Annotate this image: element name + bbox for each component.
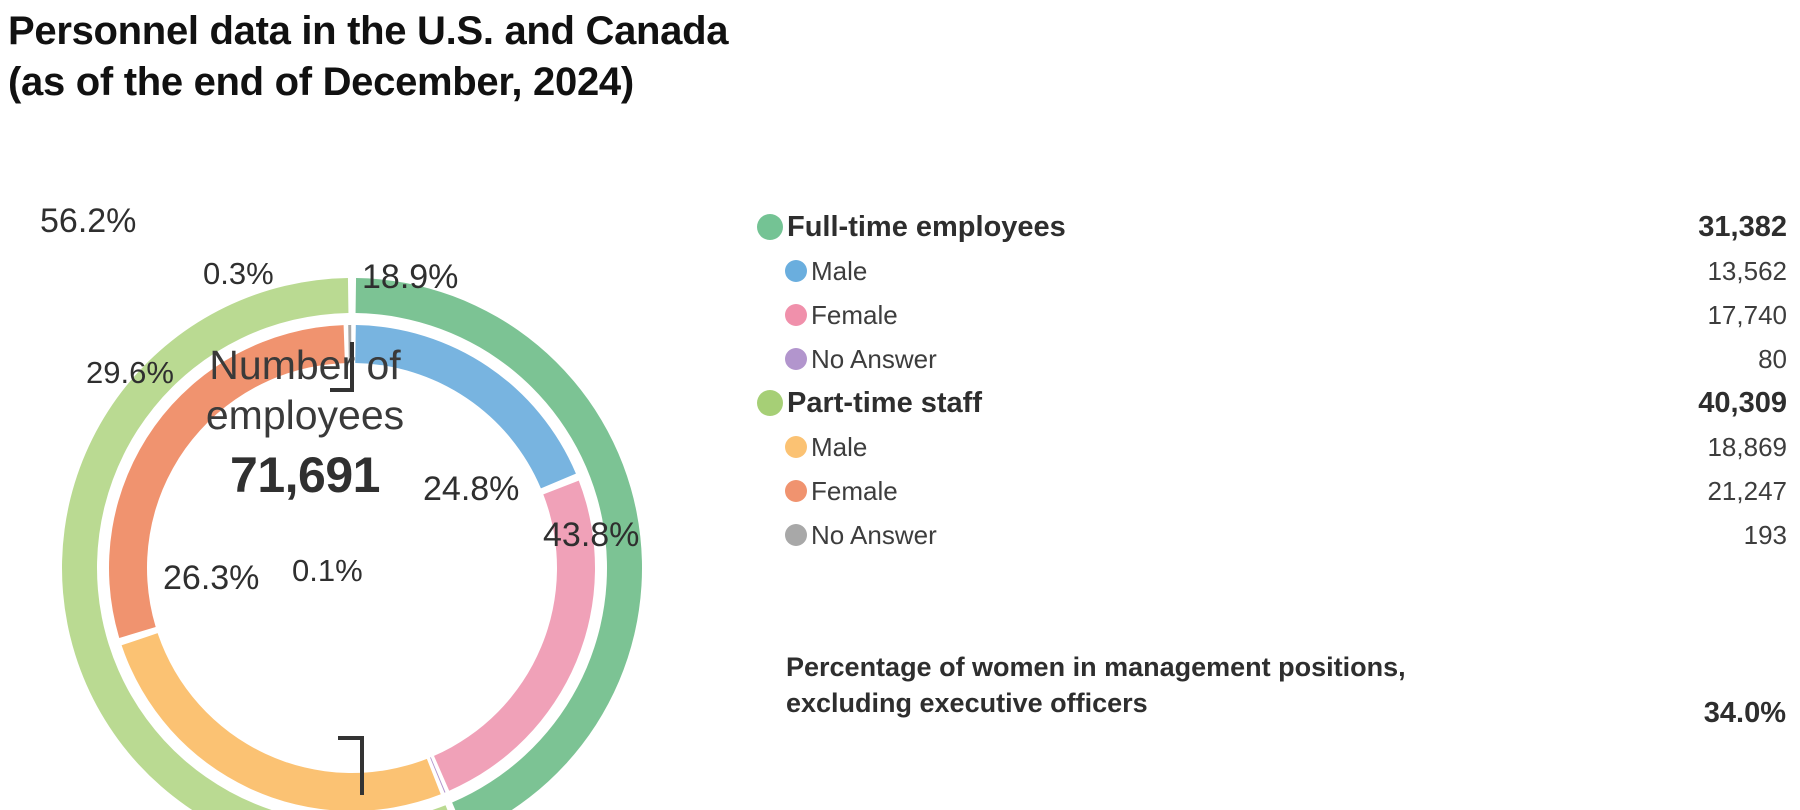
legend-row[interactable]: No Answer193 [757, 513, 1787, 557]
legend-label: Female [807, 476, 1707, 507]
legend-label: No Answer [807, 520, 1744, 551]
legend-dot-part-time-male [785, 436, 807, 458]
legend-value: 31,382 [1698, 211, 1787, 244]
pct-label-inner-pt-no-answer: 0.3% [203, 256, 274, 292]
pct-label-outer-part-time: 56.2% [40, 202, 136, 241]
donut-slice[interactable] [355, 325, 576, 488]
legend-dot-part-time [757, 390, 783, 416]
legend-value: 18,869 [1707, 432, 1787, 463]
pct-label-inner-ft-female: 24.8% [423, 470, 519, 509]
legend-value: 13,562 [1707, 256, 1787, 287]
legend-row[interactable]: Female17,740 [757, 293, 1787, 337]
legend-value: 40,309 [1698, 387, 1787, 420]
footnote-block: Percentage of women in management positi… [786, 650, 1786, 721]
page-title-line-2: (as of the end of December, 2024) [8, 57, 1108, 108]
legend-label: Male [807, 432, 1707, 463]
pct-label-inner-ft-male: 18.9% [362, 258, 458, 297]
legend-label: No Answer [807, 344, 1758, 375]
legend-dot-part-time-no-answer [785, 524, 807, 546]
legend-row[interactable]: Male18,869 [757, 425, 1787, 469]
legend-dot-full-time-no-answer [785, 348, 807, 370]
chart-legend: Full-time employees31,382Male13,562Femal… [757, 205, 1787, 557]
pct-label-inner-pt-female: 29.6% [86, 355, 174, 391]
legend-row[interactable]: Female21,247 [757, 469, 1787, 513]
legend-value: 21,247 [1707, 476, 1787, 507]
footnote-text: Percentage of women in management positi… [786, 650, 1486, 721]
legend-label: Female [807, 300, 1707, 331]
pct-label-inner-pt-male: 26.3% [163, 559, 259, 598]
legend-label: Part-time staff [783, 387, 1698, 420]
donut-chart-svg [0, 150, 700, 810]
footnote-value: 34.0% [1704, 697, 1786, 730]
legend-value: 17,740 [1707, 300, 1787, 331]
legend-dot-full-time [757, 214, 783, 240]
legend-row[interactable]: Part-time staff40,309 [757, 381, 1787, 425]
donut-chart: Number of employees 71,691 56.2% 43.8% 0… [0, 150, 700, 810]
legend-row[interactable]: Full-time employees31,382 [757, 205, 1787, 249]
legend-label: Full-time employees [783, 211, 1698, 244]
page-title: Personnel data in the U.S. and Canada (a… [8, 6, 1108, 108]
page-title-line-1: Personnel data in the U.S. and Canada [8, 6, 1108, 57]
legend-value: 193 [1744, 520, 1787, 551]
legend-value: 80 [1758, 344, 1787, 375]
pct-label-outer-full-time: 43.8% [543, 516, 639, 555]
legend-row[interactable]: No Answer80 [757, 337, 1787, 381]
pct-label-inner-ft-no-answer: 0.1% [292, 553, 363, 589]
legend-dot-part-time-female [785, 480, 807, 502]
legend-dot-full-time-female [785, 304, 807, 326]
legend-row[interactable]: Male13,562 [757, 249, 1787, 293]
legend-dot-full-time-male [785, 260, 807, 282]
legend-label: Male [807, 256, 1707, 287]
